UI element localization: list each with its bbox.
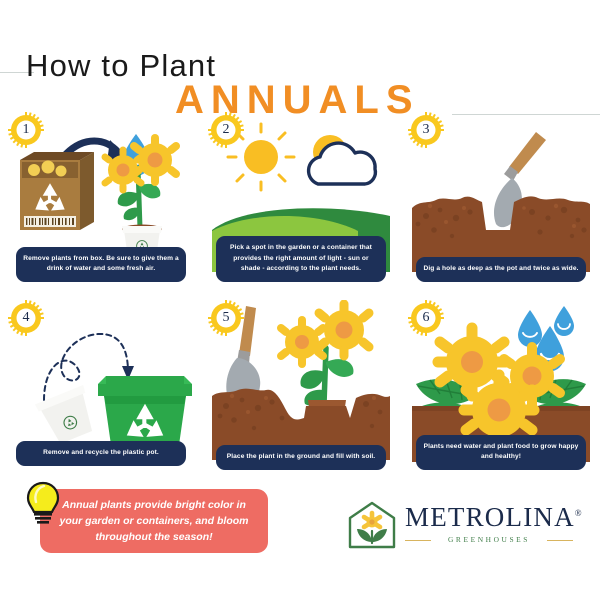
step-panel-3: 3 Dig a hole as deep as the pot and twic… <box>406 112 596 282</box>
brand-logo: METROLINA® GREENHOUSES <box>345 498 575 553</box>
logo-name: METROLINA <box>405 502 575 532</box>
step-caption-3: Dig a hole as deep as the pot and twice … <box>416 257 586 282</box>
greenhouse-flower-icon <box>345 498 399 552</box>
header: How to Plant ANNUALS <box>0 22 600 100</box>
step-badge-5: 5 <box>208 300 244 336</box>
step-number: 5 <box>208 300 244 336</box>
step-number: 3 <box>408 112 444 148</box>
step-panel-6: 6 Plants need water and plant food to gr… <box>406 300 596 470</box>
logo-tagline-wrap: GREENHOUSES <box>405 535 573 547</box>
step-number: 4 <box>8 300 44 336</box>
step-panel-4: 4 Remove and recycle the plastic pot. <box>6 300 196 470</box>
logo-rule-right <box>547 540 573 541</box>
step-caption-4: Remove and recycle the plastic pot. <box>16 441 186 466</box>
step-panel-2: 2 Pick a spot in the garden or a contain… <box>206 112 396 282</box>
infographic-canvas: How to Plant ANNUALS <box>0 0 600 600</box>
step-badge-1: 1 <box>8 112 44 148</box>
cloud-icon <box>309 135 376 184</box>
step-number: 2 <box>208 112 244 148</box>
step-number: 6 <box>408 300 444 336</box>
cardboard-box-icon <box>20 152 94 230</box>
step-caption-2: Pick a spot in the garden or a container… <box>216 236 386 282</box>
step-badge-6: 6 <box>408 300 444 336</box>
logo-wordmark: METROLINA® <box>405 502 583 533</box>
step-caption-5: Place the plant in the ground and fill w… <box>216 445 386 470</box>
registered-mark: ® <box>575 508 583 518</box>
step-badge-4: 4 <box>8 300 44 336</box>
step-caption-1: Remove plants from box. Be sure to give … <box>16 247 186 282</box>
step-caption-6: Plants need water and plant food to grow… <box>416 435 586 470</box>
step-panel-5: 5 Place the plant in the ground and fill… <box>206 300 396 470</box>
step-badge-3: 3 <box>408 112 444 148</box>
step-badge-2: 2 <box>208 112 244 148</box>
tip-text: Annual plants provide bright color in yo… <box>52 497 256 546</box>
step-number: 1 <box>8 112 44 148</box>
lightbulb-icon <box>24 481 62 525</box>
step-panel-1: 1 Remove plants from box. Be sure to giv… <box>6 112 196 282</box>
tip-banner: Annual plants provide bright color in yo… <box>40 489 268 553</box>
